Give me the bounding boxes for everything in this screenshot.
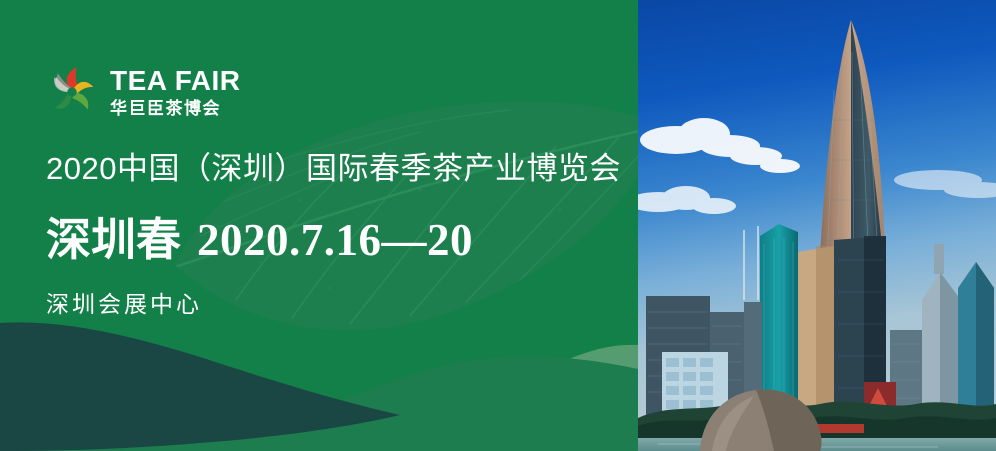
date-range-label: 2020.7.16—20 bbox=[197, 215, 473, 267]
date-line: 深圳春 2020.7.16—20 bbox=[46, 215, 621, 267]
event-banner: TEA FAIR 华巨臣茶博会 2020中国（深圳）国际春季茶产业博览会 深圳春… bbox=[0, 0, 996, 451]
logo-title: TEA FAIR bbox=[110, 67, 241, 95]
banner-copy: 2020中国（深圳）国际春季茶产业博览会 深圳春 2020.7.16—20 深圳… bbox=[46, 150, 621, 318]
tea-fair-pinwheel-logo-icon bbox=[46, 66, 98, 118]
shenzhen-skyline-photo bbox=[638, 0, 996, 451]
venue-label: 深圳会展中心 bbox=[46, 291, 621, 319]
logo-subtitle: 华巨臣茶博会 bbox=[110, 100, 241, 117]
page-title: 2020中国（深圳）国际春季茶产业博览会 bbox=[46, 150, 621, 189]
green-content-panel: TEA FAIR 华巨臣茶博会 2020中国（深圳）国际春季茶产业博览会 深圳春… bbox=[0, 0, 638, 451]
hill-silhouettes bbox=[0, 311, 638, 451]
logo-wordmark: TEA FAIR 华巨臣茶博会 bbox=[110, 67, 241, 117]
date-city-label: 深圳春 bbox=[46, 215, 181, 267]
tea-fair-logo[interactable]: TEA FAIR 华巨臣茶博会 bbox=[46, 66, 241, 118]
